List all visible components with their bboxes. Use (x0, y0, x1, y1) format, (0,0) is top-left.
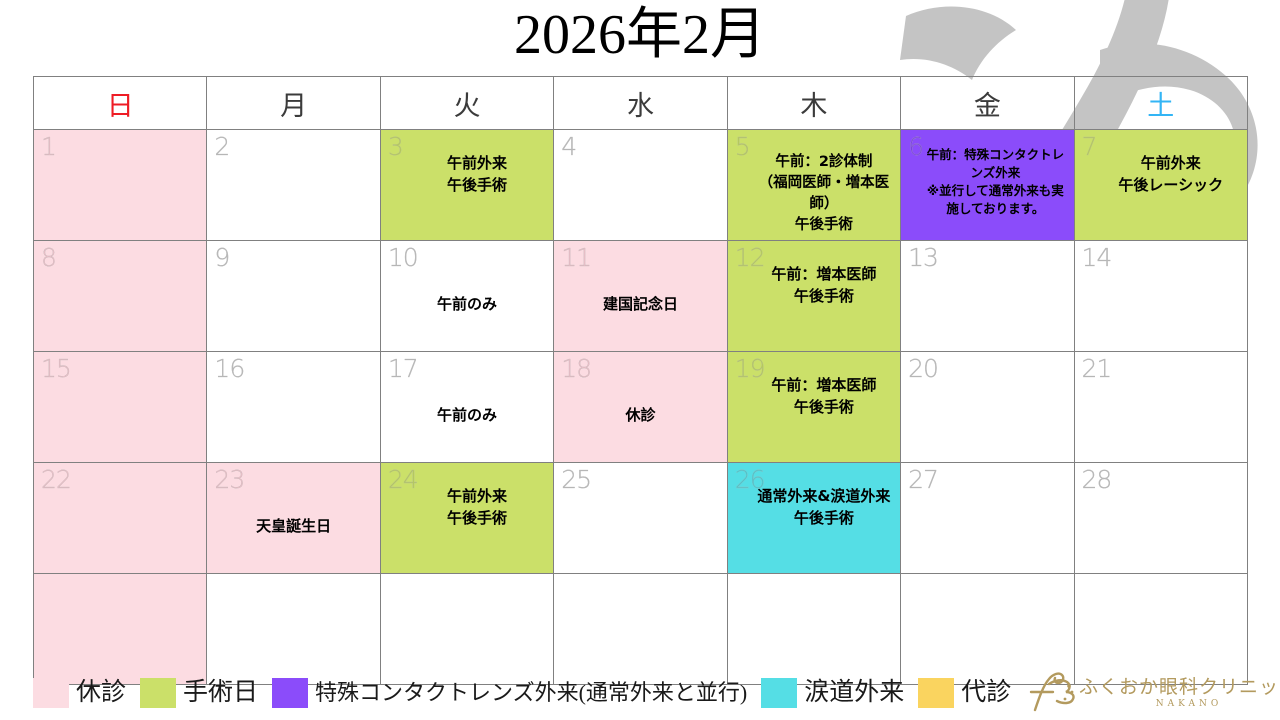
calendar-day-cell[interactable]: 19午前：増本医師 午後手術 (727, 352, 900, 463)
day-number: 8 (41, 243, 56, 273)
calendar-day-cell[interactable]: 27 (901, 463, 1074, 574)
calendar-day-cell[interactable]: 10午前のみ (380, 241, 553, 352)
day-note: 建国記念日 (554, 261, 726, 347)
legend-item: 代診 (918, 678, 1011, 708)
legend-label: 休診 (76, 678, 126, 708)
calendar-day-cell[interactable]: 18休診 (554, 352, 727, 463)
day-number: 14 (1082, 243, 1112, 273)
legend-color-swatch (272, 678, 308, 708)
legend-color-swatch (761, 678, 797, 708)
calendar-day-cell[interactable]: 15 (34, 352, 207, 463)
day-note: 午前外来 午後手術 (381, 485, 553, 569)
calendar-day-cell[interactable]: 13 (901, 241, 1074, 352)
day-number: 27 (908, 465, 938, 495)
calendar-day-cell[interactable]: 20 (901, 352, 1074, 463)
calendar-day-cell[interactable]: 28 (1074, 463, 1247, 574)
weekday-header-fri: 金 (901, 77, 1074, 130)
legend-color-swatch (918, 678, 954, 708)
weekday-header-wed: 水 (554, 77, 727, 130)
calendar-day-cell[interactable]: 6午前：特殊コンタクトレンズ外来 ※並行して通常外来も実施しております。 (901, 130, 1074, 241)
day-note: 午前：増本医師 午後手術 (728, 374, 900, 458)
day-number: 4 (561, 132, 576, 162)
weekday-header-sun: 日 (34, 77, 207, 130)
legend-label: 涙道外来 (804, 678, 904, 708)
day-number: 15 (41, 354, 71, 384)
calendar-week-row: 151617午前のみ18休診19午前：増本医師 午後手術2021 (34, 352, 1248, 463)
legend-item: 涙道外来 (761, 678, 904, 708)
calendar-day-cell[interactable]: 24午前外来 午後手術 (380, 463, 553, 574)
day-number: 9 (214, 243, 229, 273)
legend-label: 手術日 (183, 678, 258, 708)
calendar-day-cell[interactable]: 2 (207, 130, 380, 241)
legend-item: 手術日 (140, 678, 258, 708)
day-number: 16 (214, 354, 244, 384)
calendar-day-cell[interactable]: 5午前：2診体制 （福岡医師・増本医師） 午後手術 (727, 130, 900, 241)
day-number: 20 (908, 354, 938, 384)
legend-label: 特殊コンタクトレンズ外来(通常外来と並行) (315, 678, 747, 708)
legend-item: 休診 (33, 678, 126, 708)
day-note: 休診 (554, 372, 726, 458)
day-note: 天皇誕生日 (207, 483, 379, 569)
legend-color-swatch (33, 678, 69, 708)
weekday-header-tue: 火 (380, 77, 553, 130)
calendar-day-cell[interactable]: 8 (34, 241, 207, 352)
page-title: 2026年2月 (0, 2, 1280, 68)
clinic-name: ふくおか眼科クリニック (1079, 676, 1280, 698)
day-number: 25 (561, 465, 591, 495)
calendar-day-cell[interactable]: 14 (1074, 241, 1247, 352)
day-note: 午前外来 午後レーシック (1075, 152, 1247, 236)
legend: 休診手術日特殊コンタクトレンズ外来(通常外来と並行)涙道外来代診 (33, 672, 1033, 714)
calendar-day-cell[interactable]: 12午前：増本医師 午後手術 (727, 241, 900, 352)
monthly-calendar: 日 月 火 水 木 金 土 123午前外来 午後手術45午前：2診体制 （福岡医… (33, 76, 1248, 685)
legend-item: 特殊コンタクトレンズ外来(通常外来と並行) (272, 678, 747, 708)
weekday-header-row: 日 月 火 水 木 金 土 (34, 77, 1248, 130)
day-note: 午前：増本医師 午後手術 (728, 263, 900, 347)
calendar-body: 123午前外来 午後手術45午前：2診体制 （福岡医師・増本医師） 午後手術6午… (34, 130, 1248, 685)
calendar-day-cell[interactable]: 17午前のみ (380, 352, 553, 463)
day-note: 午前：2診体制 （福岡医師・増本医師） 午後手術 (728, 152, 900, 236)
calendar-empty-cell[interactable] (554, 574, 727, 685)
day-number: 2 (214, 132, 229, 162)
logo-monogram-icon (1025, 670, 1077, 716)
calendar-day-cell[interactable]: 9 (207, 241, 380, 352)
day-note: 午前のみ (381, 372, 553, 458)
calendar-empty-cell[interactable] (380, 574, 553, 685)
calendar-day-cell[interactable]: 11建国記念日 (554, 241, 727, 352)
calendar-day-cell[interactable]: 26通常外来&涙道外来 午後手術 (727, 463, 900, 574)
legend-color-swatch (140, 678, 176, 708)
calendar-day-cell[interactable]: 3午前外来 午後手術 (380, 130, 553, 241)
calendar-empty-cell[interactable] (727, 574, 900, 685)
day-number: 13 (908, 243, 938, 273)
day-note: 通常外来&涙道外来 午後手術 (728, 485, 900, 569)
weekday-header-mon: 月 (207, 77, 380, 130)
calendar-day-cell[interactable]: 23天皇誕生日 (207, 463, 380, 574)
calendar-week-row: 2223天皇誕生日24午前外来 午後手術2526通常外来&涙道外来 午後手術27… (34, 463, 1248, 574)
clinic-branch: NAKANO (1156, 698, 1223, 710)
calendar-day-cell[interactable]: 25 (554, 463, 727, 574)
day-number: 22 (41, 465, 71, 495)
calendar-day-cell[interactable]: 1 (34, 130, 207, 241)
day-note: 午前外来 午後手術 (381, 152, 553, 236)
calendar-week-row: 123午前外来 午後手術45午前：2診体制 （福岡医師・増本医師） 午後手術6午… (34, 130, 1248, 241)
weekday-header-sat: 土 (1074, 77, 1247, 130)
day-note: 午前：特殊コンタクトレンズ外来 ※並行して通常外来も実施しております。 (901, 146, 1073, 236)
legend-label: 代診 (961, 678, 1011, 708)
day-number: 28 (1082, 465, 1112, 495)
calendar-empty-cell[interactable] (207, 574, 380, 685)
clinic-logo: ふくおか眼科クリニック NAKANO (1025, 668, 1275, 718)
calendar-day-cell[interactable]: 21 (1074, 352, 1247, 463)
calendar-day-cell[interactable]: 7午前外来 午後レーシック (1074, 130, 1247, 241)
calendar-day-cell[interactable]: 4 (554, 130, 727, 241)
calendar-day-cell[interactable]: 16 (207, 352, 380, 463)
day-number: 1 (41, 132, 56, 162)
calendar-day-cell[interactable]: 22 (34, 463, 207, 574)
weekday-header-thu: 木 (727, 77, 900, 130)
calendar-week-row: 8910午前のみ11建国記念日12午前：増本医師 午後手術1314 (34, 241, 1248, 352)
day-note: 午前のみ (381, 261, 553, 347)
day-number: 21 (1082, 354, 1112, 384)
calendar-empty-cell[interactable] (34, 574, 207, 685)
